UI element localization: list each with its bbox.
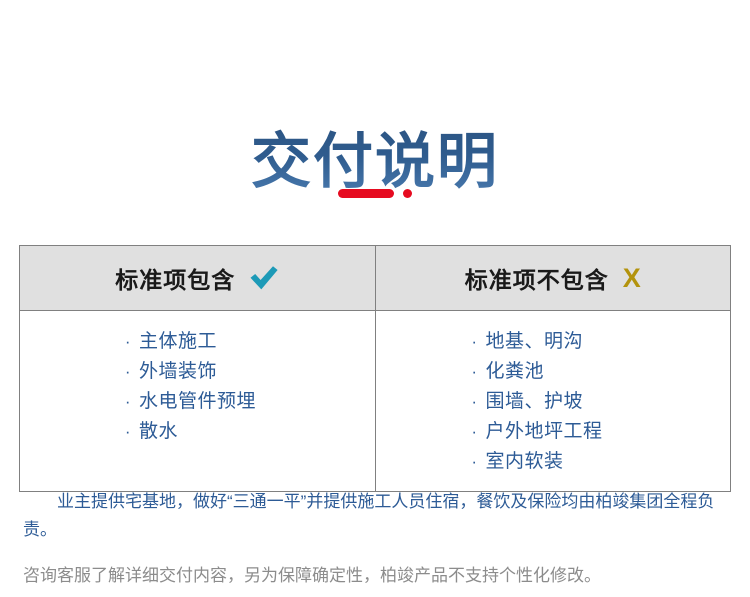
list-item-label: 水电管件预埋 [121, 387, 256, 417]
footnote-primary: 业主提供宅基地，做好“三通一平”并提供施工人员住宿，餐饮及保险均由柏竣集团全程负… [23, 488, 727, 544]
table-header-cell-included: 标准项包含 [20, 246, 376, 310]
list-item: · 主体施工 [121, 327, 375, 357]
list-item: · 户外地坪工程 [468, 417, 731, 447]
table-header-cell-excluded: 标准项不包含 X [376, 246, 731, 310]
table-body-row: · 主体施工 · 外墙装饰 · 水电管件预埋 · 散水 [20, 311, 730, 492]
list-item: · 围墙、护坡 [468, 387, 731, 417]
list-item: · 室内软装 [468, 447, 731, 477]
list-item: · 化粪池 [468, 357, 731, 387]
bullet-icon: · [468, 417, 482, 447]
x-icon: X [623, 265, 641, 292]
divider-dot-icon [403, 189, 412, 198]
bullet-icon: · [468, 387, 482, 417]
list-item-label: 地基、明沟 [468, 327, 584, 357]
title-divider [0, 189, 750, 198]
delivery-scope-table: 标准项包含 标准项不包含 X · 主体施工 [19, 245, 731, 492]
bullet-icon: · [468, 327, 482, 357]
page-title: 交付说明 [0, 126, 750, 198]
list-item: · 水电管件预埋 [121, 387, 375, 417]
list-item-label: 围墙、护坡 [468, 387, 584, 417]
delivery-instructions-page: 交付说明 标准项包含 标准项不包含 X [0, 0, 750, 597]
bullet-icon: · [121, 387, 135, 417]
list-item-label: 室内软装 [468, 447, 564, 477]
list-item-label: 外墙装饰 [121, 357, 217, 387]
bullet-icon: · [121, 327, 135, 357]
divider-bar-icon [338, 189, 394, 198]
table-header-row: 标准项包含 标准项不包含 X [20, 246, 730, 311]
bullet-icon: · [468, 447, 482, 477]
list-item-label: 户外地坪工程 [468, 417, 603, 447]
heading-block: 交付说明 [0, 0, 750, 232]
check-icon [249, 265, 279, 291]
included-header-label: 标准项包含 [115, 261, 235, 295]
excluded-header-label: 标准项不包含 [465, 261, 609, 295]
excluded-items-cell: · 地基、明沟 · 化粪池 · 围墙、护坡 · 户外地坪工程 [376, 311, 731, 491]
included-item-list: · 主体施工 · 外墙装饰 · 水电管件预埋 · 散水 [20, 327, 375, 447]
bullet-icon: · [121, 417, 135, 447]
bullet-icon: · [468, 357, 482, 387]
bullet-icon: · [121, 357, 135, 387]
excluded-item-list: · 地基、明沟 · 化粪池 · 围墙、护坡 · 户外地坪工程 [376, 327, 731, 477]
list-item-label: 主体施工 [121, 327, 217, 357]
list-item: · 外墙装饰 [121, 357, 375, 387]
list-item: · 散水 [121, 417, 375, 447]
footnotes-section: 业主提供宅基地，做好“三通一平”并提供施工人员住宿，餐饮及保险均由柏竣集团全程负… [19, 480, 731, 590]
footnote-secondary: 咨询客服了解详细交付内容，另为保障确定性，柏竣产品不支持个性化修改。 [23, 562, 727, 590]
list-item: · 地基、明沟 [468, 327, 731, 357]
included-items-cell: · 主体施工 · 外墙装饰 · 水电管件预埋 · 散水 [20, 311, 376, 491]
